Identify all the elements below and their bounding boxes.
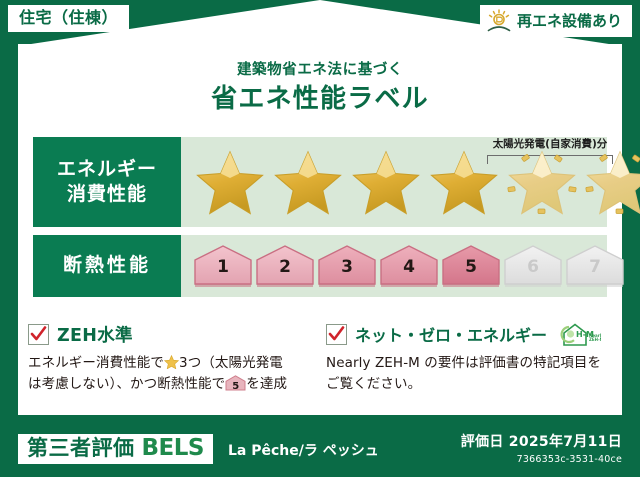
- insulation-level-7: 7: [565, 244, 625, 288]
- house-level-icon: 5: [225, 375, 246, 391]
- net-zero-energy-description: Nearly ZEH-M の要件は評価書の特記項目をご覧ください。: [326, 353, 612, 395]
- insulation-level-value: 4: [379, 259, 439, 276]
- energy-label-line2: 消費性能: [67, 182, 147, 207]
- insulation-level-scale: 1 2 3 4 5: [181, 235, 607, 297]
- evaluation-id: 7366353c-3531-40ce: [461, 454, 622, 465]
- net-zero-energy-checkbox[interactable]: [326, 324, 347, 345]
- zeh-desc-part4: を達成: [246, 376, 287, 392]
- insulation-level-1: 1: [193, 244, 253, 288]
- building-name: La Pêche/ラ ペッシュ: [228, 440, 379, 460]
- check-icon: [30, 325, 47, 343]
- star-icon-filled: [349, 147, 423, 217]
- svg-text:ZEH-M: ZEH-M: [589, 337, 601, 342]
- bels-badge-jp: 第三者評価: [27, 438, 135, 459]
- insulation-level-4: 4: [379, 244, 439, 288]
- sun-icon: [486, 9, 512, 33]
- renewable-energy-badge: 再エネ設備あり: [480, 5, 632, 37]
- label-title: 省エネ性能ラベル: [0, 78, 640, 115]
- insulation-performance-panel: 1 2 3 4 5: [181, 235, 607, 297]
- zeh-standard-block: ZEH水準 エネルギー消費性能で3つ（太陽光発電は考慮しない）、かつ断熱性能で5…: [28, 322, 314, 395]
- net-zero-energy-heading: ネット・ゼロ・エネルギー H-M Nearly ZEH-M: [326, 322, 612, 346]
- insulation-level-value: 5: [441, 259, 501, 276]
- insulation-level-value: 6: [503, 259, 563, 276]
- evaluation-info: 評価日 2025年7月11日 7366353c-3531-40ce: [461, 431, 622, 465]
- renewable-energy-badge-label: 再エネ設備あり: [517, 14, 622, 29]
- zeh-standard-title: ZEH水準: [57, 322, 133, 347]
- energy-star-rating: [181, 137, 607, 227]
- energy-performance-panel: 太陽光発電(自家消費)分: [181, 137, 607, 227]
- zeh-standard-description: エネルギー消費性能で3つ（太陽光発電は考慮しない）、かつ断熱性能で5を達成: [28, 353, 314, 395]
- insulation-level-5: 5: [441, 244, 501, 288]
- insulation-level-3: 3: [317, 244, 377, 288]
- star-icon: [164, 355, 179, 369]
- star-icon-solar: [583, 147, 640, 217]
- house-type-badge: 住宅（住棟）: [8, 5, 129, 32]
- star-icon-solar: [505, 147, 579, 217]
- nearly-zeh-m-logo: H-M Nearly ZEH-M: [557, 321, 601, 347]
- check-icon: [328, 325, 345, 343]
- insulation-level-2: 2: [255, 244, 315, 288]
- insulation-level-value: 2: [255, 259, 315, 276]
- net-zero-energy-title: ネット・ゼロ・エネルギー: [355, 322, 547, 346]
- energy-performance-row: エネルギー 消費性能 太陽光発電(自家消費)分: [33, 137, 607, 227]
- energy-performance-label: エネルギー 消費性能: [33, 137, 181, 227]
- energy-label-card: 住宅（住棟） 再エネ設備あり 建築物省エネ法に基づく 省エネ性能ラベル: [0, 0, 640, 477]
- insulation-performance-label: 断熱性能: [33, 235, 181, 297]
- zeh-desc-part1: エネルギー消費性能で: [28, 355, 164, 371]
- insulation-label-text: 断熱性能: [63, 253, 151, 278]
- zeh-desc-part2: 3つ（太陽光発電: [179, 355, 283, 371]
- evaluation-date: 評価日 2025年7月11日: [461, 431, 622, 451]
- house-level-value: 5: [225, 379, 246, 395]
- insulation-level-value: 3: [317, 259, 377, 276]
- bels-badge: 第三者評価 BELS: [18, 434, 213, 464]
- zeh-standard-heading: ZEH水準: [28, 322, 314, 346]
- insulation-level-6: 6: [503, 244, 563, 288]
- energy-label-line1: エネルギー: [57, 157, 157, 182]
- label-subtitle: 建築物省エネ法に基づく: [0, 58, 640, 79]
- zeh-desc-part3: は考慮しない）、かつ断熱性能で: [28, 376, 225, 392]
- bels-badge-en: BELS: [142, 437, 204, 460]
- net-zero-energy-block: ネット・ゼロ・エネルギー H-M Nearly ZEH-M Nearly ZEH…: [326, 322, 612, 395]
- star-icon-filled: [271, 147, 345, 217]
- insulation-performance-row: 断熱性能 1 2 3 4: [33, 235, 607, 297]
- insulation-level-value: 1: [193, 259, 253, 276]
- insulation-level-value: 7: [565, 259, 625, 276]
- star-icon-filled: [193, 147, 267, 217]
- zeh-standard-checkbox[interactable]: [28, 324, 49, 345]
- star-icon-filled: [427, 147, 501, 217]
